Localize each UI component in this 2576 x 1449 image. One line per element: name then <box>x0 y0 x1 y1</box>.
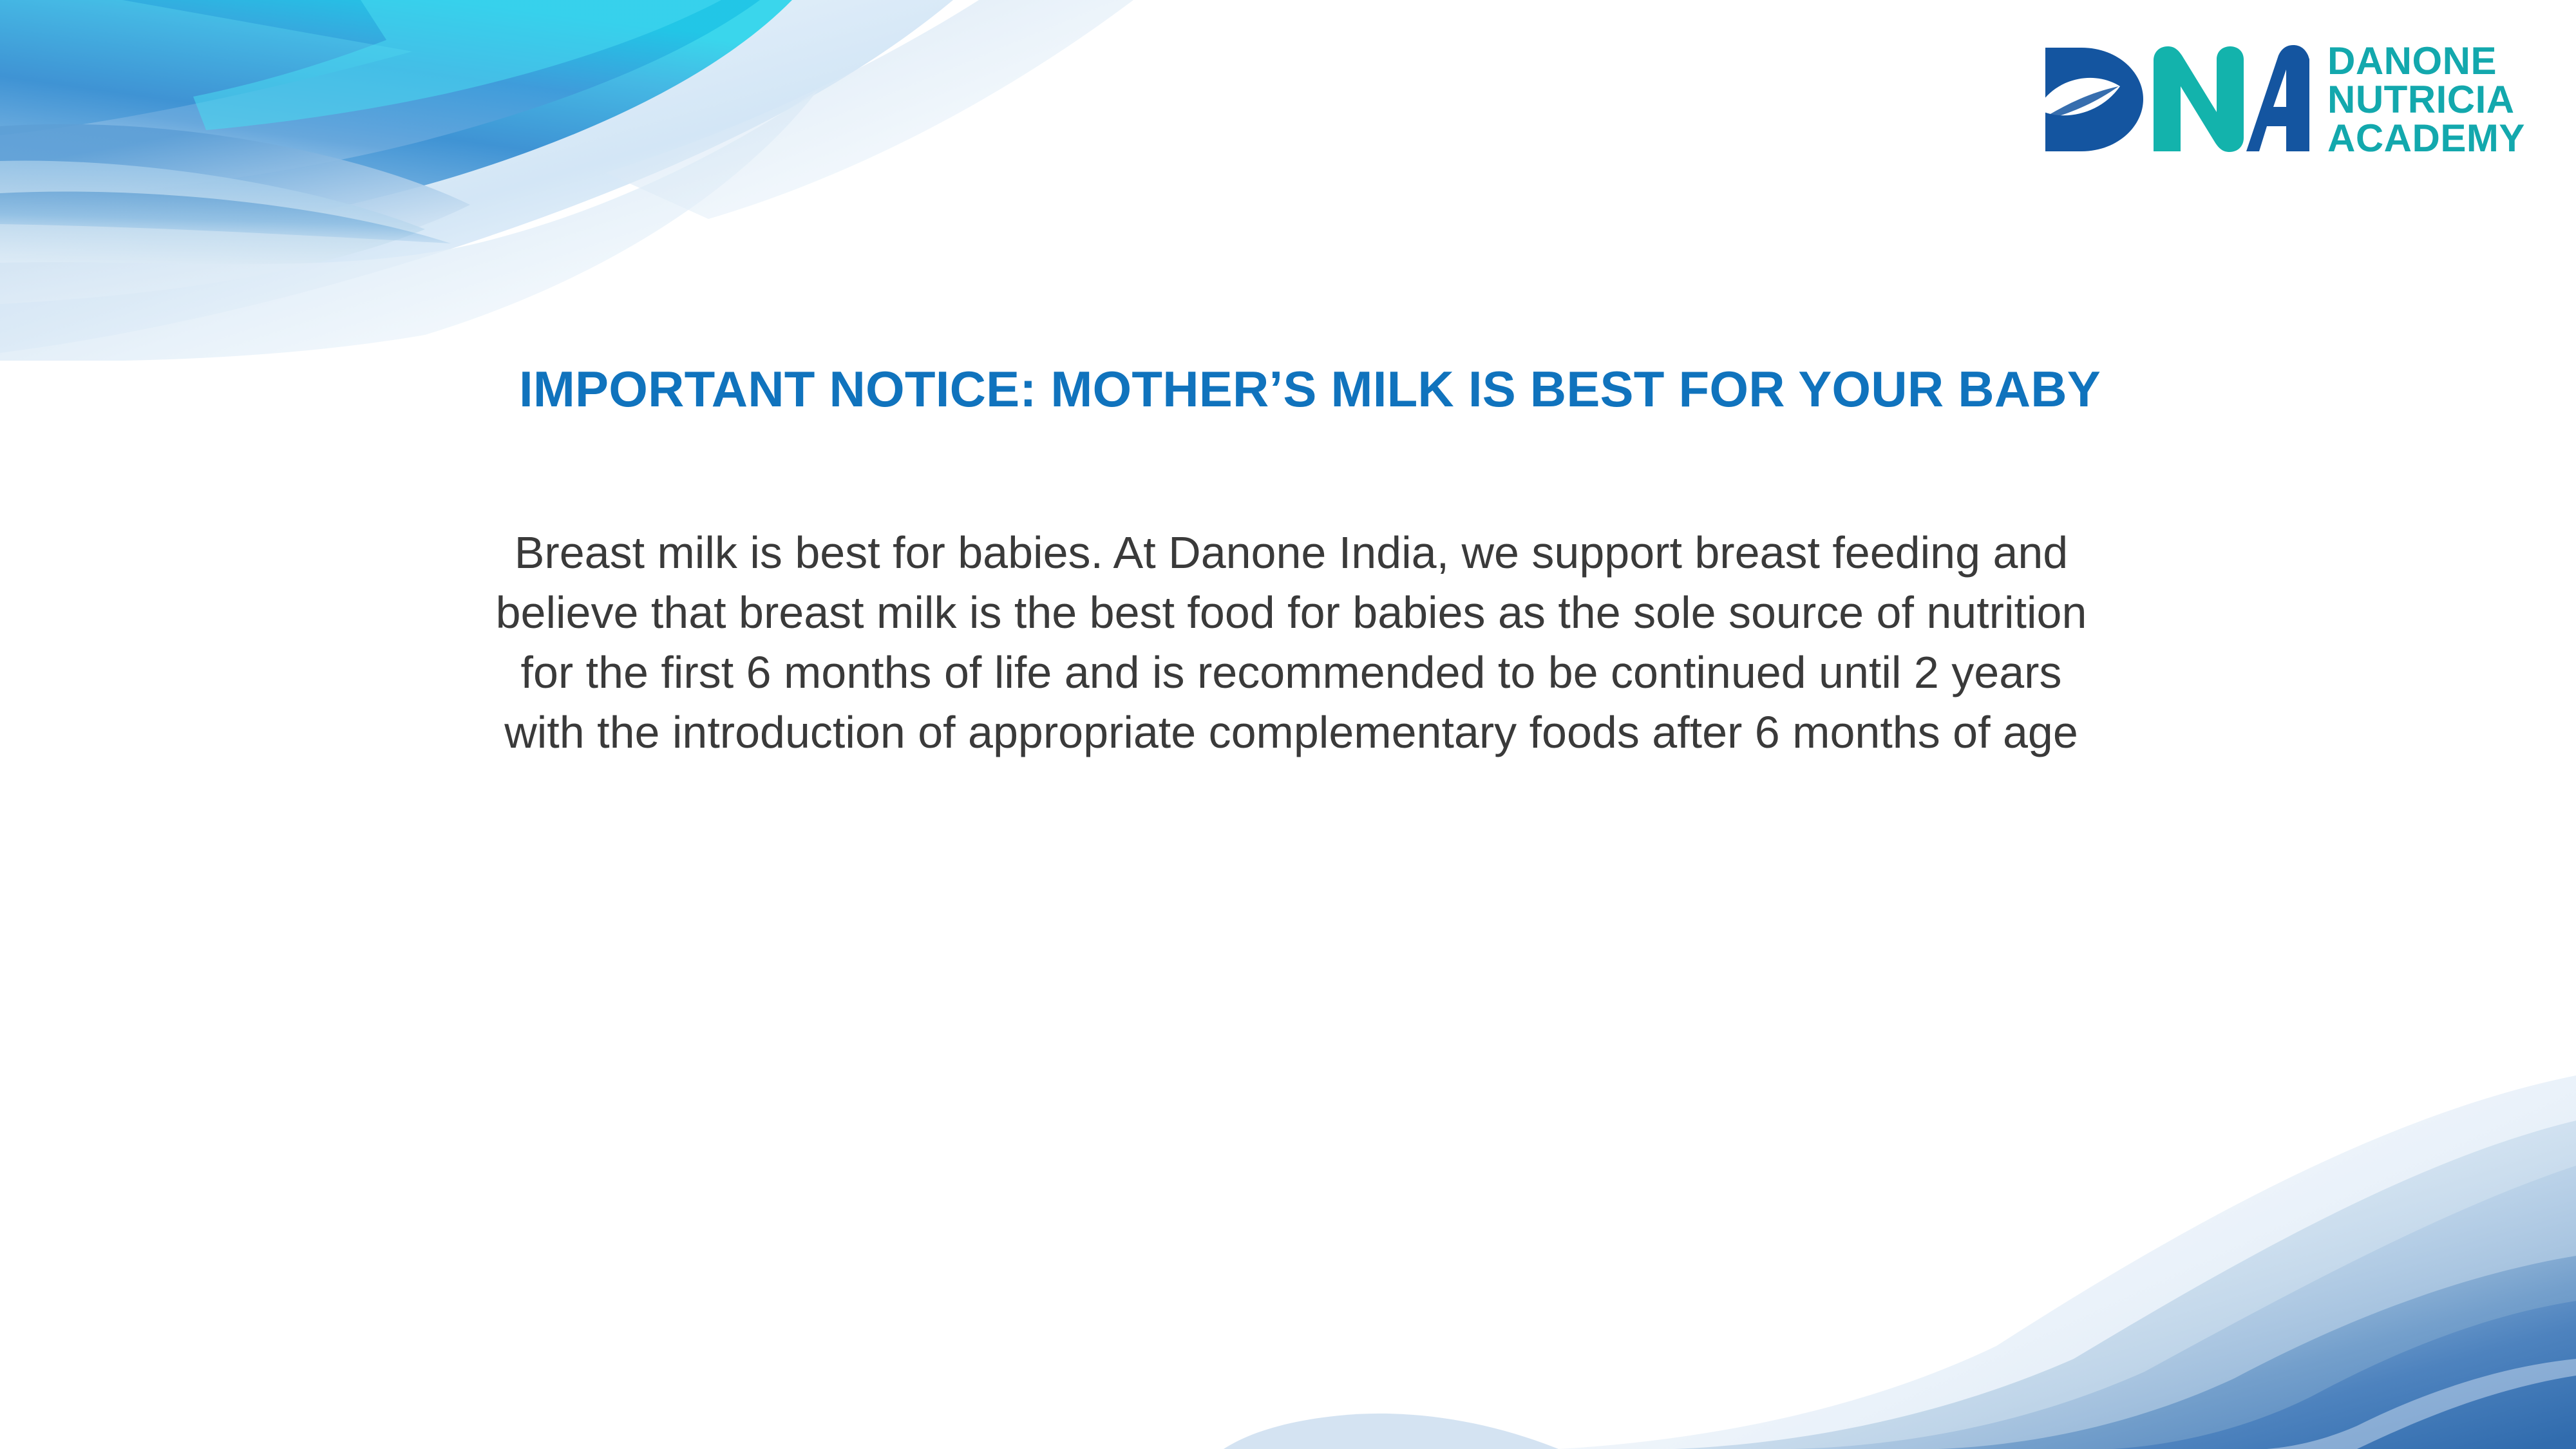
wordmark-line-danone: DANONE <box>2327 42 2525 80</box>
top-left-wave-decoration <box>0 0 1320 361</box>
logo-letter-a <box>2246 45 2309 151</box>
logo-letter-n <box>2154 46 2244 152</box>
dna-logo-mark <box>2040 40 2309 159</box>
wordmark-line-nutricia: NUTRICIA <box>2327 80 2525 119</box>
body-line: with the introduction of appropriate com… <box>232 703 2351 762</box>
body-line: for the first 6 months of life and is re… <box>232 643 2351 703</box>
wordmark-line-academy: ACADEMY <box>2327 119 2525 158</box>
slide-content: IMPORTANT NOTICE: MOTHER’S MILK IS BEST … <box>232 361 2351 762</box>
logo-wordmark: DANONE NUTRICIA ACADEMY <box>2327 42 2525 158</box>
body-line: believe that breast milk is the best foo… <box>232 583 2351 643</box>
page-title: IMPORTANT NOTICE: MOTHER’S MILK IS BEST … <box>269 361 2351 419</box>
bottom-right-wave-decoration <box>1224 998 2576 1449</box>
danone-nutricia-academy-logo: DANONE NUTRICIA ACADEMY <box>2040 40 2530 159</box>
notice-body-text: Breast milk is best for babies. At Danon… <box>232 523 2351 762</box>
body-line: Breast milk is best for babies. At Danon… <box>232 523 2351 583</box>
slide-canvas: DANONE NUTRICIA ACADEMY IMPORTANT NOTICE… <box>0 0 2576 1449</box>
